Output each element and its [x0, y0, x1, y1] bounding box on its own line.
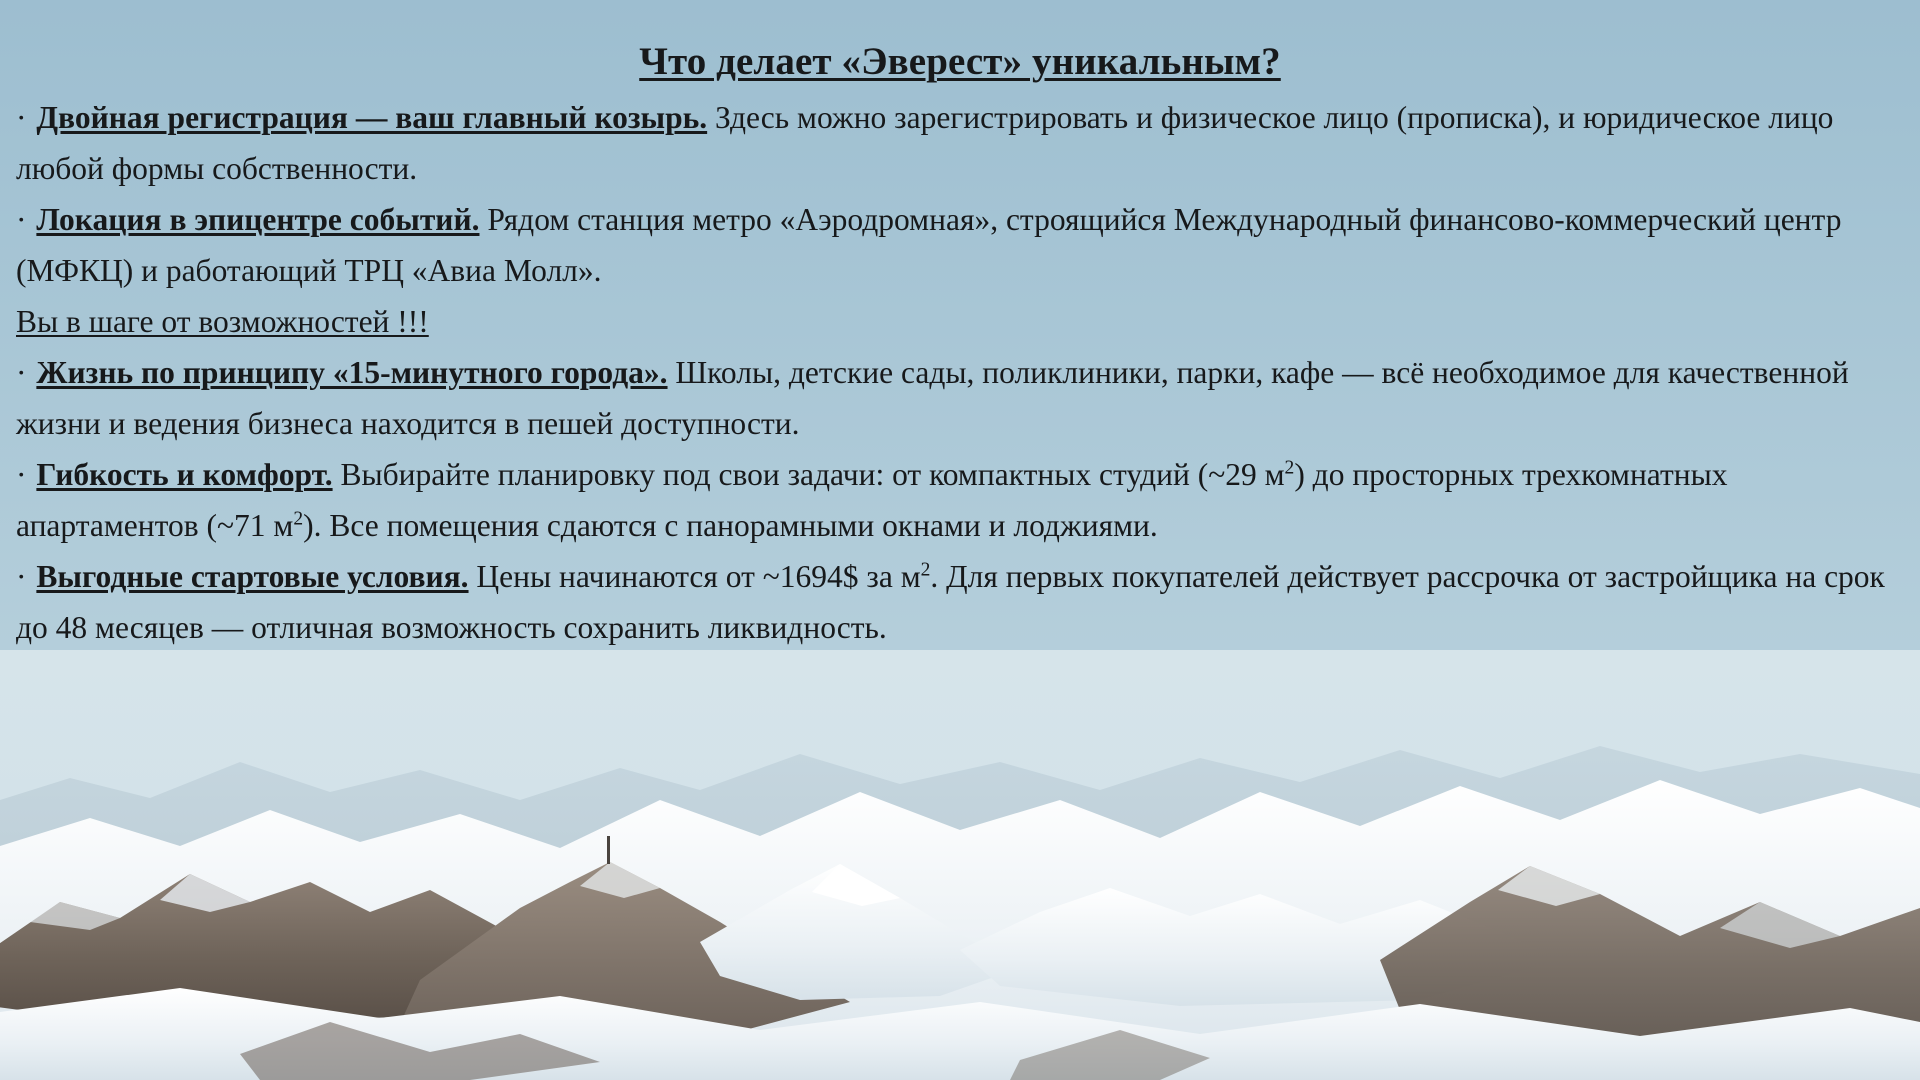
bullet-marker: · [16, 355, 29, 390]
presentation-slide: Что делает «Эверест» уникальным? · Двойн… [0, 0, 1920, 1080]
bullet-marker: · [16, 559, 29, 594]
bullet-lead-location: Локация в эпицентре событий. [36, 202, 479, 237]
bullet-fifteen-minute-city: · Жизнь по принципу «15-минутного города… [16, 347, 1904, 449]
page-title-text: Что делает «Эверест» уникальным? [639, 40, 1281, 83]
bullet-dual-registration: · Двойная регистрация — ваш главный козы… [16, 92, 1904, 194]
bullet-starting-conditions: · Выгодные стартовые условия. Цены начин… [16, 551, 1904, 653]
square-meter-exponent: 2 [293, 508, 303, 529]
bullet-lead-flexibility-comfort: Гибкость и комфорт. [36, 457, 332, 492]
bullet-location: · Локация в эпицентре событий. Рядом ста… [16, 194, 1904, 296]
square-meter-exponent: 2 [1285, 457, 1295, 478]
bullet-marker: · [16, 100, 29, 135]
bullet-body-conditions-part1: Цены начинаются от ~1694$ за м [469, 559, 921, 594]
bullet-body-flexibility-part3: ). Все помещения сдаются с панорамными о… [303, 508, 1158, 543]
page-title: Что делает «Эверест» уникальным? [16, 40, 1904, 84]
bullet-marker: · [16, 457, 29, 492]
mountain-range-photo [0, 650, 1920, 1080]
call-to-action-line: Вы в шаге от возможностей !!! [16, 296, 1904, 347]
slide-text-content: Что делает «Эверест» уникальным? · Двойн… [0, 0, 1920, 653]
bullet-lead-dual-registration: Двойная регистрация — ваш главный козырь… [36, 100, 707, 135]
bullet-lead-fifteen-minute-city: Жизнь по принципу «15-минутного города». [36, 355, 667, 390]
square-meter-exponent: 2 [921, 559, 931, 580]
bullet-marker: · [16, 202, 29, 237]
bullet-body-flexibility-part1: Выбирайте планировку под свои задачи: от… [333, 457, 1285, 492]
bullet-lead-starting-conditions: Выгодные стартовые условия. [36, 559, 468, 594]
call-to-action-text: Вы в шаге от возможностей !!! [16, 304, 429, 339]
bullet-flexibility-comfort: · Гибкость и комфорт. Выбирайте планиров… [16, 449, 1904, 551]
